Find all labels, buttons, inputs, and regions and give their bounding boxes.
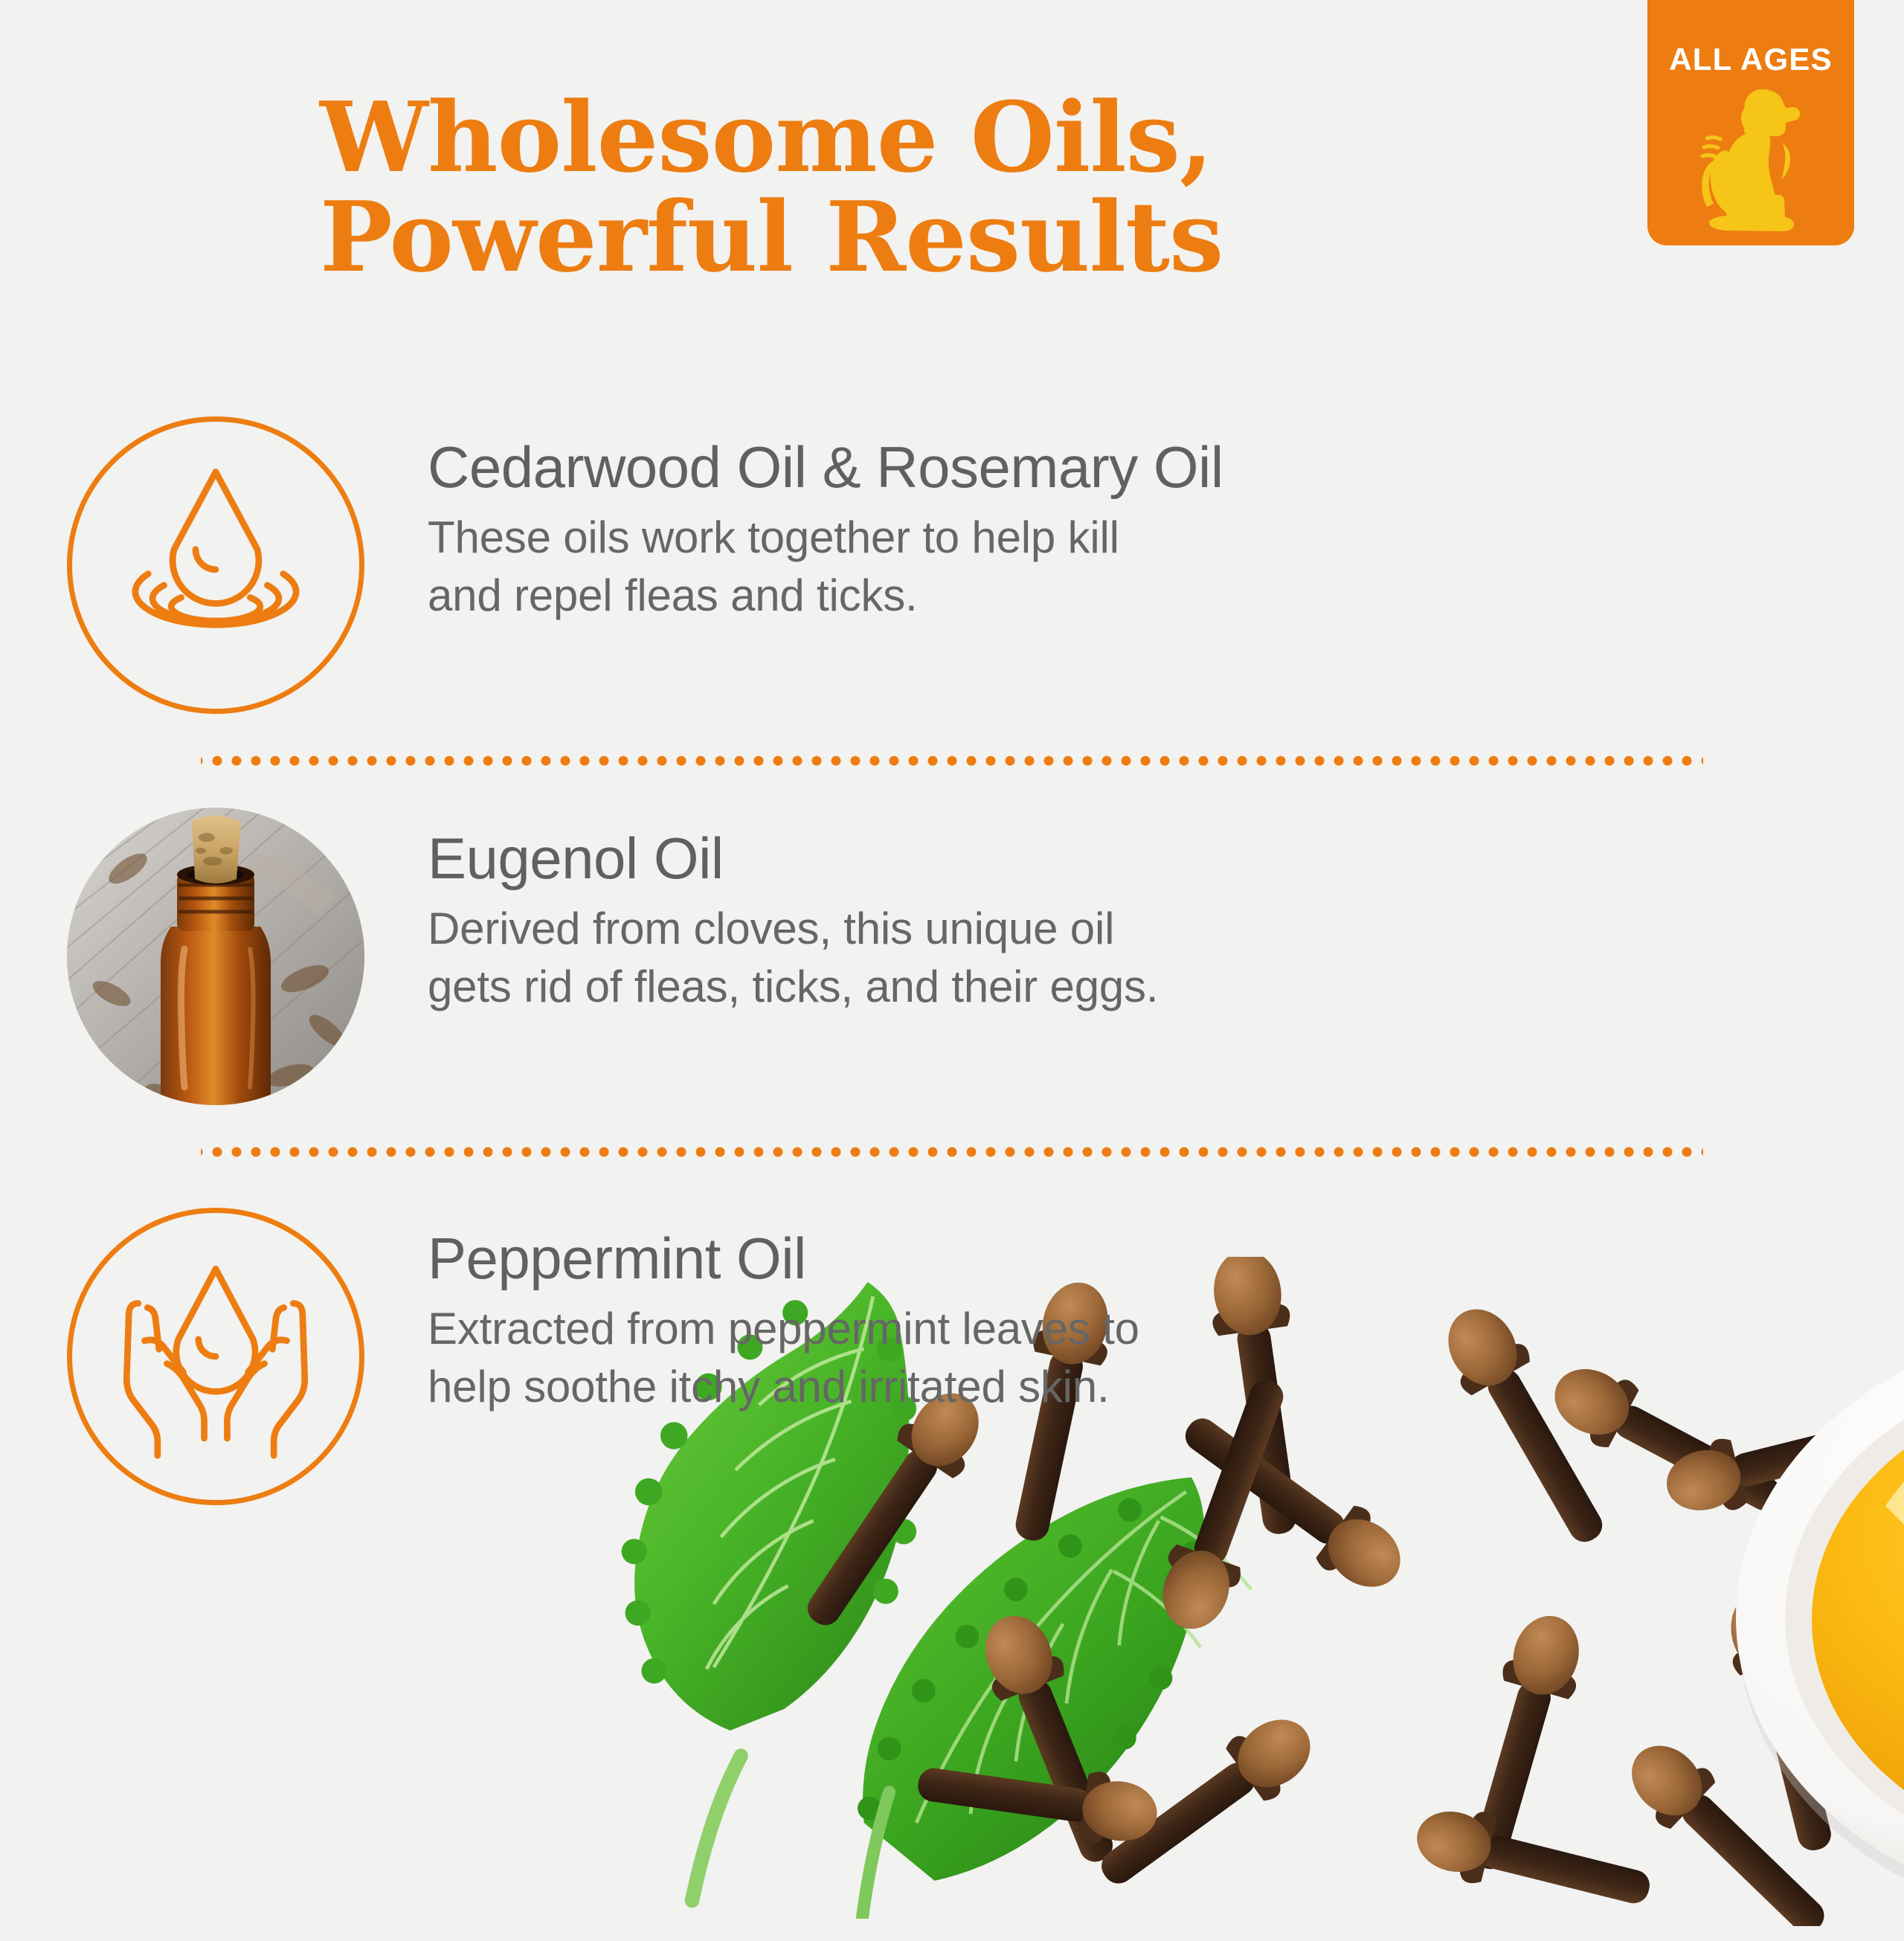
item-media [0, 808, 297, 1105]
item-description: Extracted from peppermint leaves to help… [428, 1300, 1139, 1416]
amber-oil-bottle-photo [67, 808, 364, 1105]
water-droplet-ripple-icon [67, 416, 364, 714]
item-description: Derived from cloves, this unique oil get… [428, 900, 1158, 1016]
item-title: Eugenol Oil [428, 827, 1158, 889]
all-ages-badge-label: ALL AGES [1647, 42, 1854, 77]
item-text: Cedarwood Oil & Rosemary Oil These oils … [297, 416, 1223, 625]
dotted-divider [201, 1147, 1703, 1157]
item-media [0, 1208, 297, 1505]
sitting-dog-icon [1673, 83, 1830, 232]
list-item: Peppermint Oil Extracted from peppermint… [0, 1208, 1904, 1505]
item-text: Eugenol Oil Derived from cloves, this un… [297, 808, 1158, 1016]
ingredient-list: Cedarwood Oil & Rosemary Oil These oils … [0, 416, 1904, 1505]
item-title: Cedarwood Oil & Rosemary Oil [428, 436, 1223, 498]
item-title: Peppermint Oil [428, 1227, 1139, 1290]
item-media [0, 416, 297, 714]
page-title-line-2: Powerful Results [320, 187, 1629, 287]
item-description: These oils work together to help kill an… [428, 509, 1223, 625]
dotted-divider [201, 756, 1703, 766]
page-title: Wholesome Oils, Powerful Results [320, 88, 1629, 287]
page-title-line-1: Wholesome Oils, [320, 88, 1629, 187]
all-ages-badge: ALL AGES [1647, 0, 1854, 245]
list-item: Eugenol Oil Derived from cloves, this un… [0, 808, 1904, 1105]
hands-holding-droplet-icon [67, 1208, 364, 1505]
item-text: Peppermint Oil Extracted from peppermint… [297, 1208, 1139, 1416]
list-item: Cedarwood Oil & Rosemary Oil These oils … [0, 416, 1904, 714]
